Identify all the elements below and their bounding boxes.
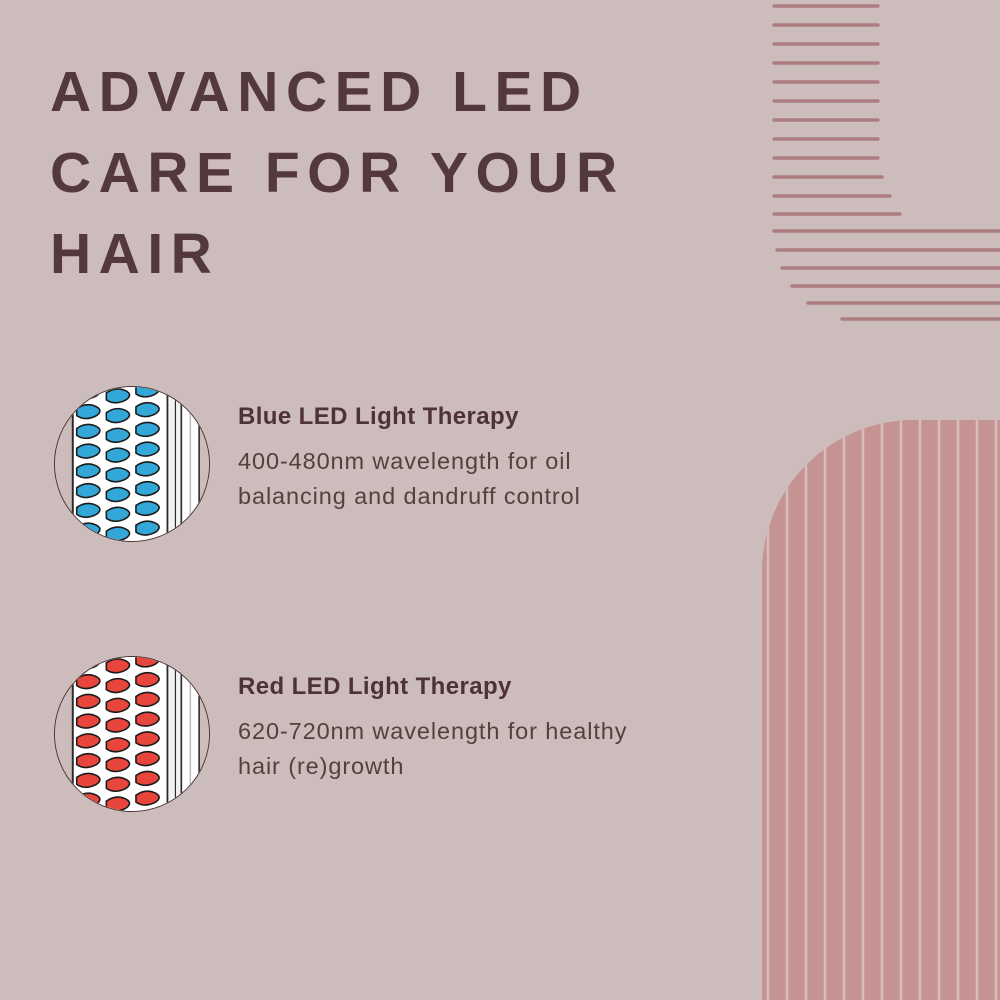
page-title-line-2: CARE FOR YOUR [50,133,710,214]
page-title: ADVANCED LED CARE FOR YOUR HAIR [50,52,710,295]
feature-red-led-description-line-2: hair (re)growth [238,749,627,784]
hair-brush-blue-led-closeup-icon [54,386,210,542]
hair-brush-red-led-closeup-icon [54,656,210,812]
poster-canvas: ADVANCED LED CARE FOR YOUR HAIR [0,0,1000,1000]
page-title-line-3: HAIR [50,214,710,295]
feature-blue-led-description-line-1: 400-480nm wavelength for oil [238,444,581,479]
horizontal-stripe-pattern-decoration [760,0,1000,330]
page-title-line-1: ADVANCED LED [50,52,710,133]
feature-blue-led: Blue LED Light Therapy 400-480nm wavelen… [54,386,814,542]
feature-red-led-description: 620-720nm wavelength for healthy hair (r… [238,714,627,784]
feature-red-led-title: Red LED Light Therapy [238,672,627,702]
feature-blue-led-description-line-2: balancing and dandruff control [238,479,581,514]
feature-blue-led-title: Blue LED Light Therapy [238,402,581,432]
feature-red-led-description-line-1: 620-720nm wavelength for healthy [238,714,627,749]
feature-red-led-text: Red LED Light Therapy 620-720nm waveleng… [238,656,627,784]
feature-blue-led-text: Blue LED Light Therapy 400-480nm wavelen… [238,386,581,514]
feature-red-led: Red LED Light Therapy 620-720nm waveleng… [54,656,814,812]
feature-blue-led-description: 400-480nm wavelength for oil balancing a… [238,444,581,514]
